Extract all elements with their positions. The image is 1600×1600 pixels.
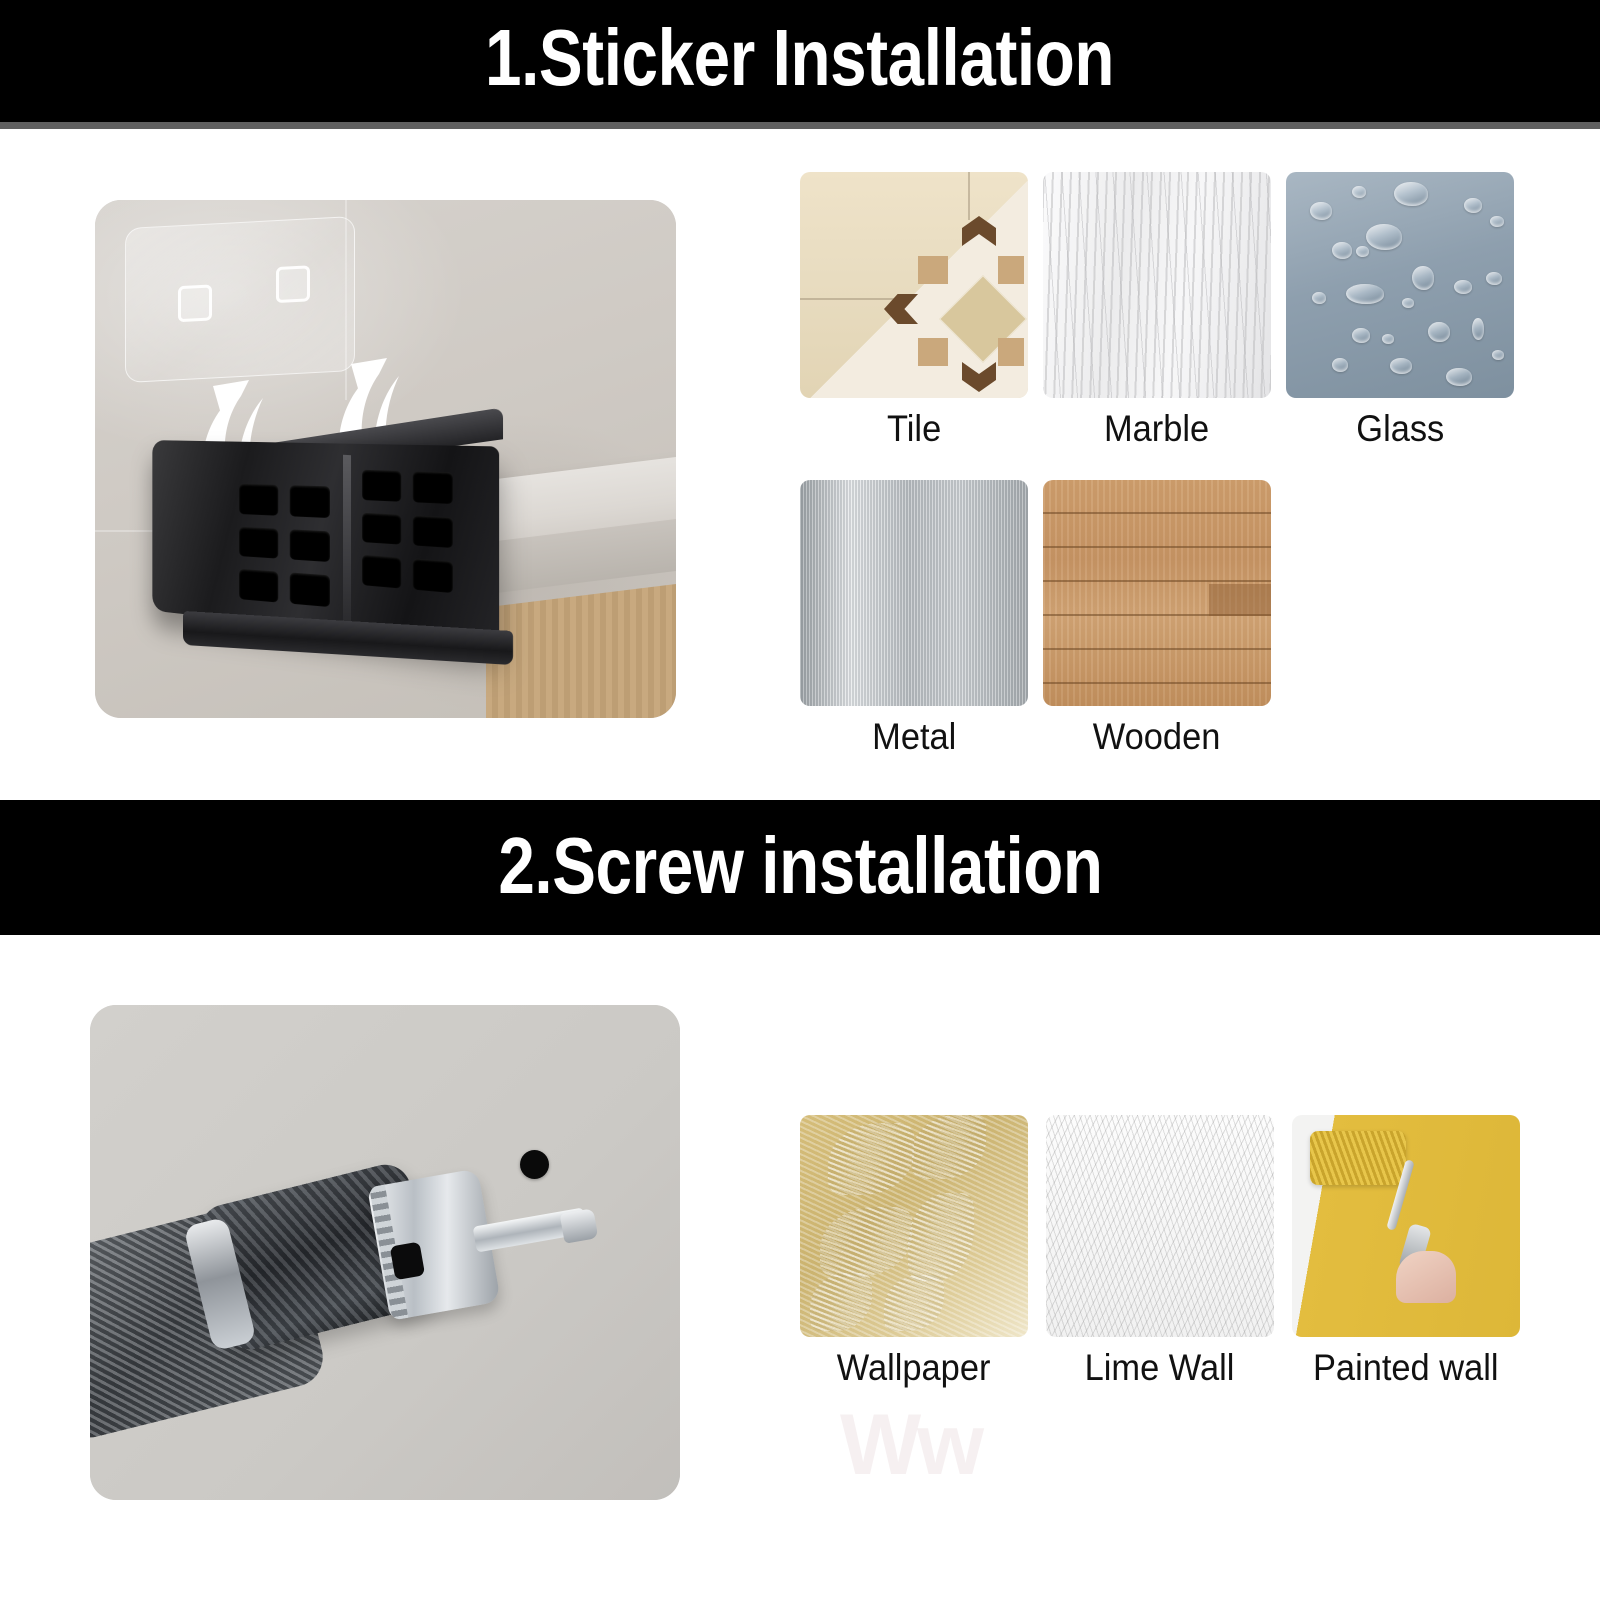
- marble-texture-icon: [1043, 172, 1271, 398]
- metal-texture-icon: [800, 480, 1028, 706]
- swatch-row-bottom: Metal Wooden: [800, 480, 1271, 758]
- caddy-vent-slots: [362, 470, 453, 593]
- swatch-glass: Glass: [1286, 172, 1514, 450]
- hand-thumb: [1396, 1251, 1456, 1303]
- swatch-label: Painted wall: [1313, 1347, 1499, 1389]
- sticker-installation-photo: [95, 200, 676, 718]
- painted-wall-texture-icon: [1292, 1115, 1520, 1337]
- swatch-row-screw: Wallpaper Lime Wall Painted wall: [800, 1115, 1520, 1389]
- swatch-label: Glass: [1356, 408, 1444, 450]
- section-title-sticker: 1.Sticker Installation: [486, 18, 1115, 104]
- swatch-tile: Tile: [800, 172, 1028, 450]
- section-title-screw: 2.Screw installation: [498, 826, 1102, 910]
- pilot-bit-tip: [560, 1208, 599, 1243]
- swatch-row-top: Tile Marble: [800, 172, 1514, 450]
- section-banner-screw: 2.Screw installation: [0, 800, 1600, 935]
- swatch-wooden: Wooden: [1043, 480, 1271, 758]
- caddy-divider: [343, 455, 351, 625]
- screw-installation-photo: [90, 1005, 680, 1500]
- adhesive-sticker-sheet: [125, 216, 355, 383]
- product-instruction-graphic: 1.Sticker Installation: [0, 0, 1600, 1600]
- lime-wall-texture-icon: [1046, 1115, 1274, 1337]
- wooden-texture-icon: [1043, 480, 1271, 706]
- banner-underline-rule: [0, 122, 1600, 129]
- swatch-metal: Metal: [800, 480, 1028, 758]
- section-banner-sticker: 1.Sticker Installation: [0, 0, 1600, 122]
- swatch-label: Tile: [887, 408, 941, 450]
- hole-saw-port: [390, 1242, 425, 1281]
- wallpaper-texture-icon: [800, 1115, 1028, 1337]
- swatch-marble: Marble: [1043, 172, 1271, 450]
- sticker-hook: [276, 265, 310, 303]
- glass-texture-icon: [1286, 172, 1514, 398]
- swatch-lime-wall: Lime Wall: [1046, 1115, 1274, 1389]
- swatch-label: Wallpaper: [837, 1347, 991, 1389]
- paint-roller-head: [1310, 1131, 1406, 1185]
- caddy-vent-slots: [239, 484, 330, 607]
- drilled-hole: [520, 1150, 549, 1179]
- swatch-painted-wall: Painted wall: [1292, 1115, 1520, 1389]
- tile-texture-icon: [800, 172, 1028, 398]
- sticker-hook: [178, 284, 212, 322]
- swatch-label: Lime Wall: [1085, 1347, 1235, 1389]
- watermark: Ww: [840, 1396, 980, 1495]
- swatch-label: Wooden: [1093, 716, 1221, 758]
- swatch-label: Metal: [872, 716, 956, 758]
- wall-organizer-caddy: [131, 425, 551, 675]
- swatch-label: Marble: [1104, 408, 1209, 450]
- swatch-wallpaper: Wallpaper: [800, 1115, 1028, 1389]
